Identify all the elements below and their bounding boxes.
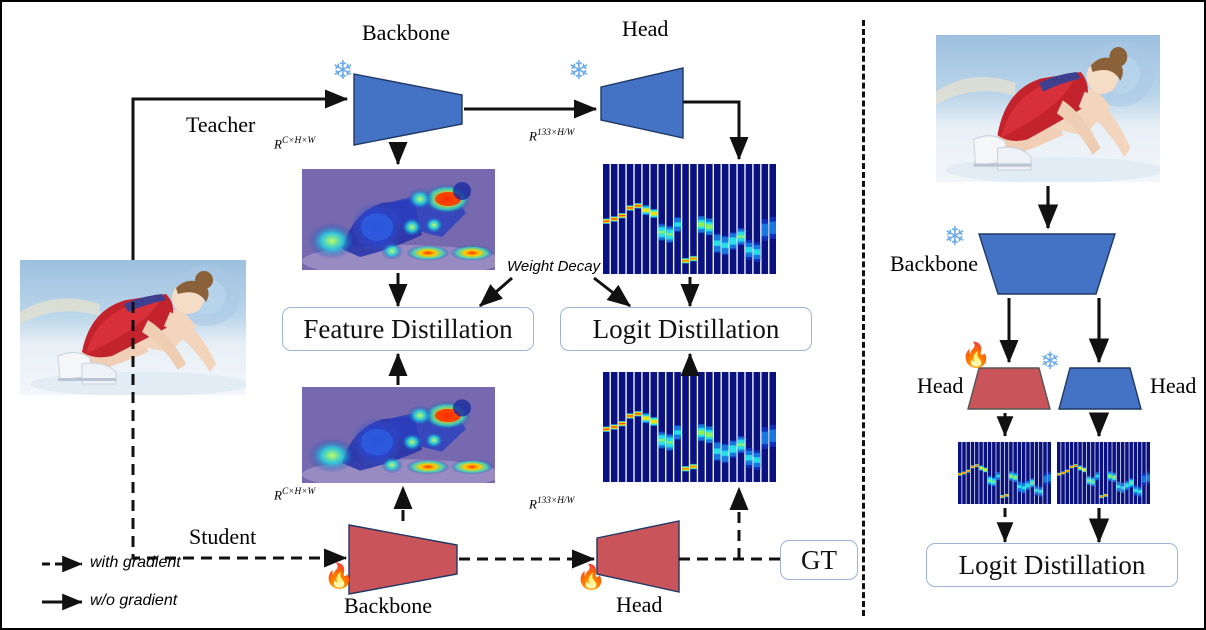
right-student-head-label: Head [917,373,963,399]
teacher-backbone-shape [354,74,462,145]
teacher-logit-dim: R133×H/W [529,128,574,144]
teacher-logit-heatmap [603,164,776,274]
legend-with-gradient-label: with gradient [90,554,181,572]
dim-sup: C×H×W [282,136,315,146]
panel-divider [862,20,865,616]
teacher-head-label: Head [622,16,668,42]
teacher-branch-label: Teacher [186,112,255,138]
teacher-feature-heatmap [302,169,495,270]
snowflake-icon: ❄ [568,58,590,84]
student-logit-heatmap [603,372,776,482]
dim-base: R [274,487,282,502]
logit-distillation-box[interactable]: Logit Distillation [560,307,812,351]
figure-canvas: Backbone Head Teacher Student Backbone H… [0,0,1206,630]
student-feature-heatmap [302,387,495,483]
dim-sup: 133×H/W [537,128,574,138]
snowflake-icon: ❄ [1040,350,1060,374]
student-head-shape [597,521,679,592]
ground-truth-box[interactable]: GT [780,540,858,580]
right-logit-distillation-box[interactable]: Logit Distillation [926,543,1178,587]
student-feature-dim: RC×H×W [274,487,315,503]
student-head-label: Head [616,592,662,618]
teacher-head-shape [601,68,683,138]
dim-base: R [529,496,537,511]
flame-icon: 🔥 [961,344,991,368]
snowflake-icon: ❄ [332,58,354,84]
input-image-left [20,260,246,395]
teacher-feature-dim: RC×H×W [274,136,315,152]
dim-sup: C×H×W [282,487,315,497]
dim-base: R [274,136,282,151]
dim-base: R [529,128,537,143]
right-teacher-head-label: Head [1150,373,1196,399]
student-logit-dim: R133×H/W [529,496,574,512]
flame-icon: 🔥 [576,566,606,590]
legend-without-gradient-label: w/o gradient [90,592,177,610]
flame-icon: 🔥 [324,565,354,589]
right-student-logit-heatmap [958,442,1051,504]
student-backbone-shape [349,525,457,594]
student-branch-label: Student [189,524,256,550]
right-backbone-label: Backbone [890,251,978,277]
right-teacher-head-shape [1059,368,1141,409]
weight-decay-label: Weight Decay [507,258,600,275]
teacher-backbone-label: Backbone [362,20,450,46]
input-image-right [936,35,1160,182]
right-backbone-shape [979,234,1115,294]
dim-sup: 133×H/W [537,496,574,506]
student-backbone-label: Backbone [344,593,432,619]
right-teacher-logit-heatmap [1057,442,1150,504]
snowflake-icon: ❄ [944,224,966,250]
right-student-head-shape [968,368,1050,409]
feature-distillation-box[interactable]: Feature Distillation [282,307,534,351]
